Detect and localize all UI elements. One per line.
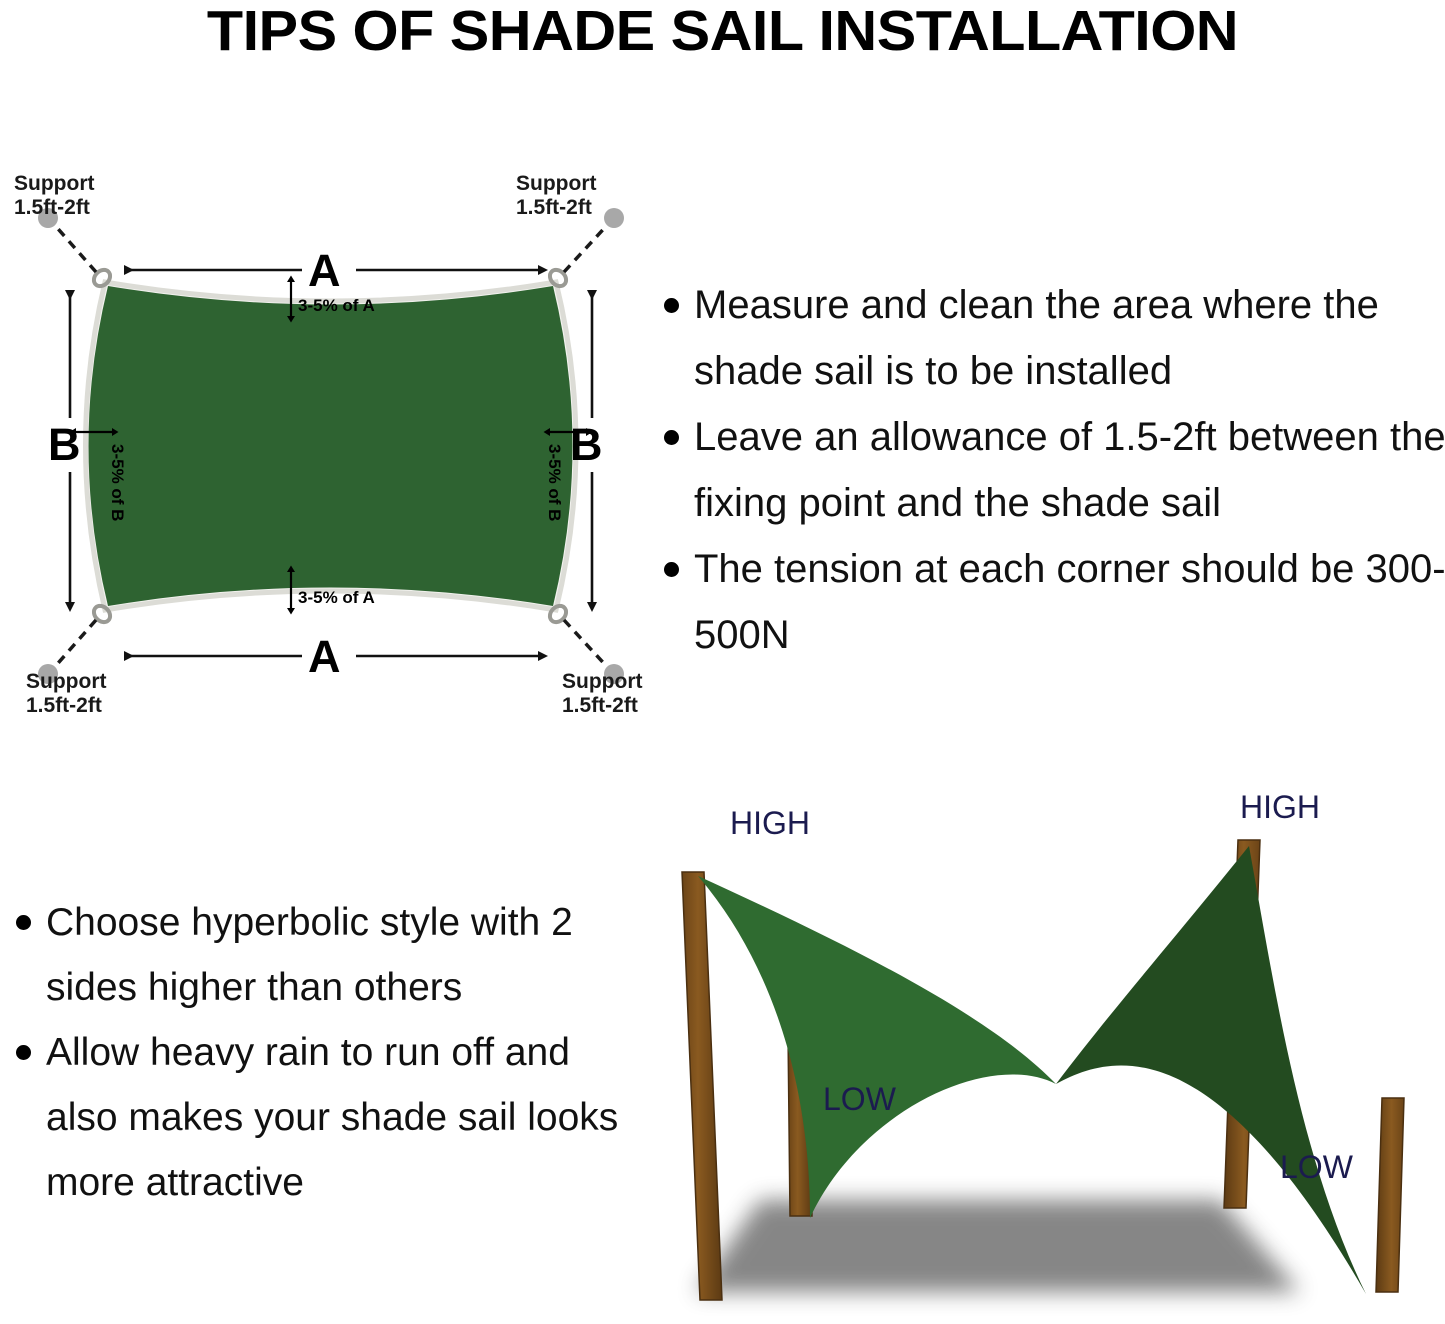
support-line-bottom-left	[52, 620, 96, 670]
list-item: The tension at each corner should be 300…	[648, 536, 1445, 668]
list-item: Leave an allowance of 1.5-2ft between th…	[648, 404, 1445, 536]
sail-shape-group	[86, 282, 577, 610]
label-high-left: HIGH	[730, 805, 810, 841]
support-label-bottom-right-range: 1.5ft-2ft	[562, 694, 638, 717]
support-label-top-left: Support	[14, 172, 94, 195]
curve-label-a-bottom: 3-5% of A	[298, 588, 375, 607]
hyperbolic-bullets: Choose hyperbolic style with 2 sides hig…	[0, 890, 640, 1215]
hyperbolic-sail-diagram: HIGH HIGH LOW LOW	[660, 780, 1445, 1319]
label-high-right: HIGH	[1240, 789, 1320, 825]
support-label-top-right-range: 1.5ft-2ft	[516, 196, 592, 219]
dim-label-b-left: B	[48, 419, 81, 470]
curve-label-b-right: 3-5% of B	[545, 444, 564, 521]
curve-label-b-left: 3-5% of B	[108, 444, 127, 521]
list-item: Choose hyperbolic style with 2 sides hig…	[0, 890, 640, 1020]
installation-tips-list: Measure and clean the area where the sha…	[648, 272, 1445, 672]
support-label-bottom-left-range: 1.5ft-2ft	[26, 694, 102, 717]
list-item: Allow heavy rain to run off and also mak…	[0, 1020, 640, 1215]
post-low-right	[1376, 1098, 1404, 1292]
support-line-top-right	[564, 222, 610, 272]
hyperbolic-tips-list: Choose hyperbolic style with 2 sides hig…	[0, 890, 640, 1220]
curve-label-a-top: 3-5% of A	[298, 296, 375, 315]
sail-panel-front	[698, 876, 1056, 1218]
support-line-top-left	[52, 222, 96, 272]
label-low-right: LOW	[1280, 1149, 1354, 1185]
support-label-top-left-range: 1.5ft-2ft	[14, 196, 90, 219]
dim-label-b-right: B	[570, 419, 603, 470]
sail-fabric	[89, 286, 573, 606]
support-dot-top-right	[604, 208, 624, 228]
support-line-bottom-right	[564, 620, 610, 670]
dim-label-a-bottom: A	[308, 631, 341, 682]
list-item: Measure and clean the area where the sha…	[648, 272, 1445, 404]
support-label-bottom-right: Support	[562, 670, 642, 693]
support-label-bottom-left: Support	[26, 670, 106, 693]
ground-shadow	[696, 1200, 1300, 1292]
post-high-left	[682, 872, 722, 1300]
page-title: TIPS OF SHADE SAIL INSTALLATION	[0, 0, 1445, 62]
label-low-left: LOW	[823, 1081, 897, 1117]
rect-sail-diagram: Support 1.5ft-2ft Support 1.5ft-2ft Supp…	[0, 160, 660, 730]
tips-bullets: Measure and clean the area where the sha…	[648, 272, 1445, 668]
support-label-top-right: Support	[516, 172, 596, 195]
dim-label-a-top: A	[308, 245, 341, 296]
